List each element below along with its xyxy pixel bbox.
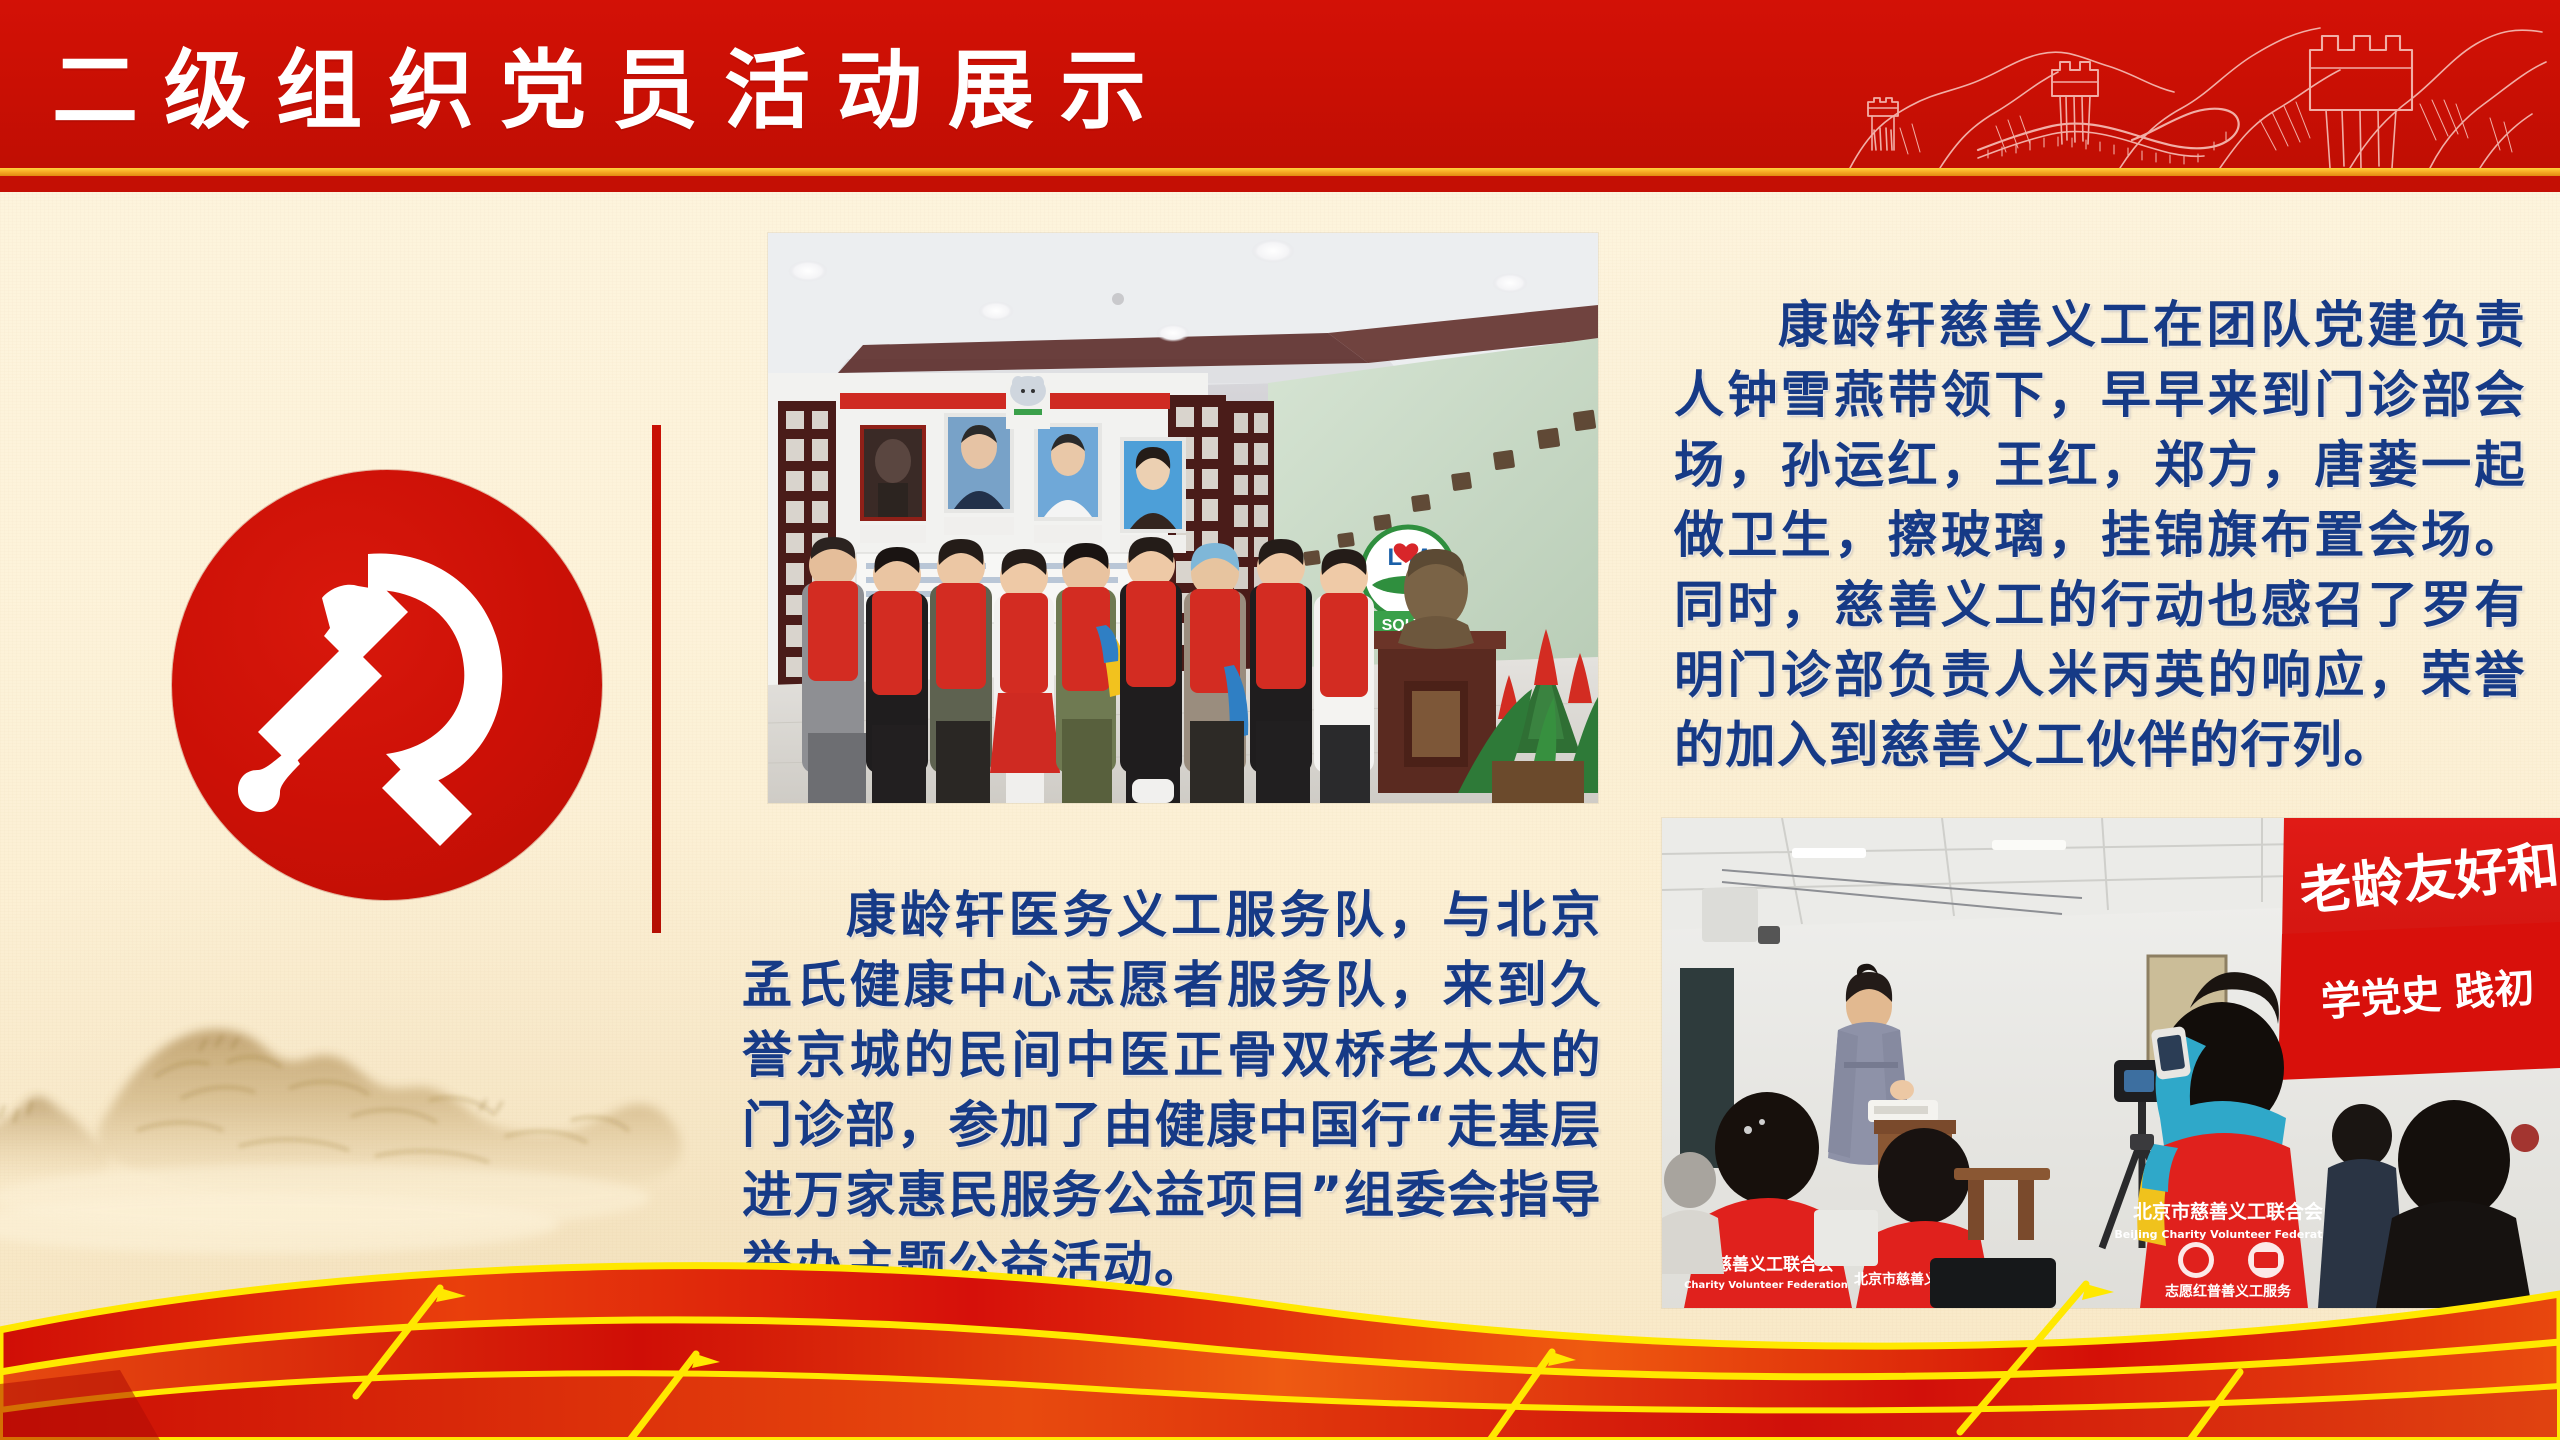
article-right-paragraph: 康龄轩慈善义工在团队党建负责人钟雪燕带领下，早早来到门诊部会场，孙运红，王红，郑… (1674, 290, 2526, 780)
vertical-red-rule (652, 425, 661, 933)
photo-group-volunteers-clinic: L M SQLYY (768, 233, 1598, 803)
header-banner: 二级组织党员活动展示 (0, 0, 2560, 192)
ink-wash-mountain-landscape (0, 960, 720, 1290)
bottom-red-ribbon-decoration (0, 1260, 2560, 1440)
cpc-hammer-sickle-emblem (172, 470, 602, 900)
header-gold-rule (0, 168, 2560, 176)
page-title: 二级组织党员活动展示 (52, 36, 1172, 146)
svg-text:BeiJing Charity Volunteer Fede: BeiJing Charity Volunteer Federation (2114, 1228, 2341, 1241)
poster-canvas: 二级组织党员活动展示 (0, 0, 2560, 1440)
svg-text:北京市慈善义工联合会: 北京市慈善义工联合会 (2133, 1200, 2323, 1223)
photo-lecture-audience: 老龄友好和 学党史 践初 (1662, 818, 2560, 1308)
great-wall-illustration (1790, 0, 2560, 170)
article-left-paragraph: 康龄轩医务义工服务队，与北京孟氏健康中心志愿者服务队，来到久誉京城的民间中医正骨… (742, 880, 1602, 1300)
article-left-paragraph-text: 康龄轩医务义工服务队，与北京孟氏健康中心志愿者服务队，来到久誉京城的民间中医正骨… (742, 880, 1602, 1300)
header-bottom-red-strip (0, 176, 2560, 192)
article-right-paragraph-text: 康龄轩慈善义工在团队党建负责人钟雪燕带领下，早早来到门诊部会场，孙运红，王红，郑… (1674, 290, 2526, 780)
